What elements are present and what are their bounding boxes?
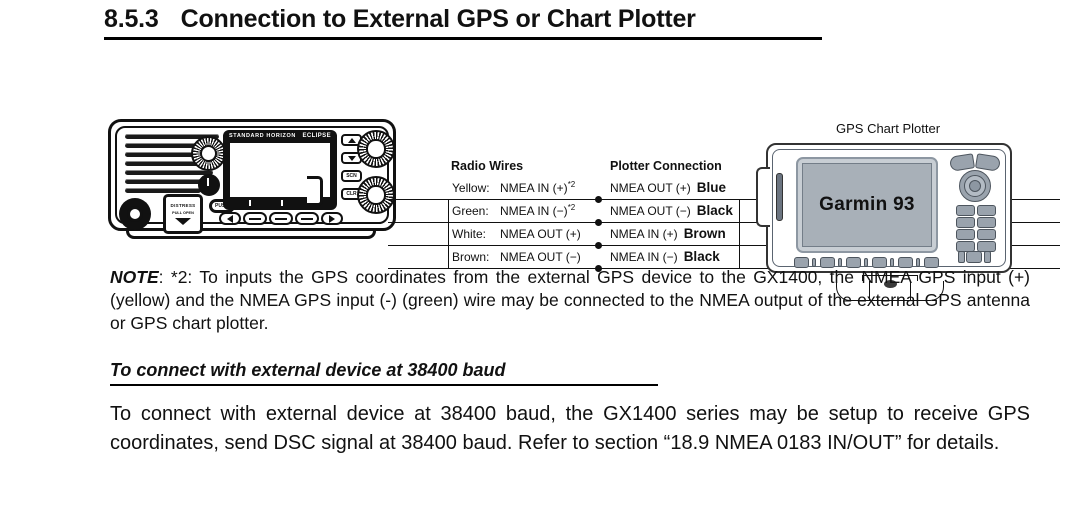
plotter-connector-housing [756, 167, 770, 227]
keypad-button [977, 217, 996, 228]
chevron-up-icon [348, 138, 356, 143]
plotter-connection-header: Plotter Connection [610, 159, 722, 173]
chart-plotter-illustration: Garmin 93 [766, 143, 1012, 273]
plotter-screen-bezel: Garmin 93 [796, 157, 938, 253]
plotter-wire-color: Blue [697, 180, 726, 195]
footnote-marker: *2 [568, 180, 576, 189]
wire-color-label: Yellow: [452, 181, 500, 195]
note-body: : *2: To inputs the GPS coordinates from… [110, 267, 1030, 333]
wire-color-label: Green: [452, 204, 500, 218]
keypad-button [956, 229, 975, 240]
radio-base-bracket [126, 231, 376, 239]
plotter-wire-cell: NMEA IN (−)Black [610, 249, 720, 264]
document-page: 8.5.3 Connection to External GPS or Char… [0, 0, 1082, 509]
wire-color-label: Brown: [452, 250, 500, 264]
radio-signal-label: NMEA OUT (−) [500, 250, 581, 264]
keypad-button [977, 205, 996, 216]
plotter-wire-color: Brown [684, 226, 726, 241]
microphone-jack-icon [119, 198, 151, 230]
radio-signal-label: NMEA OUT (+) [500, 227, 581, 241]
plotter-wire-color: Black [697, 203, 733, 218]
section-heading: 8.5.3 Connection to External GPS or Char… [104, 5, 822, 40]
chevron-down-icon [348, 156, 356, 161]
keypad-bottom-row [958, 251, 994, 261]
radio-wires-header: Radio Wires [451, 159, 523, 173]
keypad-wing-right [975, 153, 1001, 172]
plotter-wire-cell: NMEA OUT (+)Blue [610, 180, 726, 195]
vhf-radio-illustration: DISTRESS PULL OPEN PUSH STANDARD HORIZON… [108, 119, 396, 231]
radio-wire-cell: Green:NMEA IN (−)*2 [452, 203, 575, 218]
scan-button: SCN [341, 170, 362, 182]
softkey-1 [243, 212, 267, 225]
distress-arrow-icon [175, 218, 191, 225]
heading-underline [104, 37, 822, 40]
plotter-connector-tab [776, 173, 783, 221]
note-label: NOTE [110, 267, 159, 287]
plotter-wire-cell: NMEA OUT (−)Black [610, 203, 733, 218]
wire-color-label: White: [452, 227, 500, 241]
wire-row: Green:NMEA IN (−)*2 NMEA OUT (−)Black [448, 203, 748, 224]
plotter-screen-text: Garmin 93 [819, 194, 915, 216]
page-title: Connection to External GPS or Chart Plot… [181, 5, 696, 34]
plotter-wire-cell: NMEA IN (+)Brown [610, 226, 726, 241]
softkey-2 [269, 212, 293, 225]
footnote-marker: *2 [568, 203, 576, 212]
subsection-heading: To connect with external device at 38400… [110, 360, 658, 386]
left-arrow-key [219, 212, 241, 225]
plotter-signal-label: NMEA OUT (−) [610, 204, 691, 218]
section-number: 8.5.3 [104, 5, 159, 34]
volume-knob [191, 136, 226, 171]
plotter-signal-label: NMEA IN (+) [610, 227, 678, 241]
plotter-signal-label: NMEA IN (−) [610, 250, 678, 264]
radio-signal-label: NMEA IN (−) [500, 204, 568, 218]
right-arrow-key [321, 212, 343, 225]
wire-row: White:NMEA OUT (+) NMEA IN (+)Brown [448, 226, 748, 247]
wire-mapping-table: Radio Wires Plotter Connection Yell [448, 159, 748, 274]
radio-brand-label: STANDARD HORIZON [229, 133, 296, 139]
plotter-wire-color: Black [684, 249, 720, 264]
wire-row: Yellow:NMEA IN (+)*2 NMEA OUT (+)Blue [448, 180, 748, 201]
radio-wire-runs [388, 159, 448, 274]
keypad-button [977, 229, 996, 240]
note-paragraph: NOTE: *2: To inputs the GPS coordinates … [110, 266, 1030, 335]
keypad-button [956, 205, 975, 216]
plotter-caption: GPS Chart Plotter [836, 121, 940, 136]
radio-softkey-row [219, 212, 343, 225]
plotter-signal-label: NMEA OUT (+) [610, 181, 691, 195]
plotter-keypad [948, 155, 1002, 263]
distress-label-secondary: PULL OPEN [166, 211, 200, 215]
radio-cable-connector [307, 176, 323, 206]
plotter-screen: Garmin 93 [802, 163, 932, 247]
keypad-button [956, 217, 975, 228]
radio-wire-cell: Brown:NMEA OUT (−) [452, 249, 581, 264]
distress-label-primary: DISTRESS [166, 203, 200, 208]
body-paragraph: To connect with external device at 38400… [110, 400, 1030, 458]
directional-rocker-icon [959, 170, 991, 202]
radio-model-label: ECLIPSE [303, 133, 331, 139]
wiring-diagram-figure: DISTRESS PULL OPEN PUSH STANDARD HORIZON… [0, 55, 1082, 260]
power-button-icon [198, 174, 220, 196]
keypad-wing-left [949, 153, 975, 172]
radio-wire-cell: White:NMEA OUT (+) [452, 226, 581, 241]
radio-signal-label: NMEA IN (+) [500, 181, 568, 195]
radio-wire-cell: Yellow:NMEA IN (+)*2 [452, 180, 575, 195]
softkey-3 [295, 212, 319, 225]
distress-button: DISTRESS PULL OPEN [163, 194, 203, 234]
